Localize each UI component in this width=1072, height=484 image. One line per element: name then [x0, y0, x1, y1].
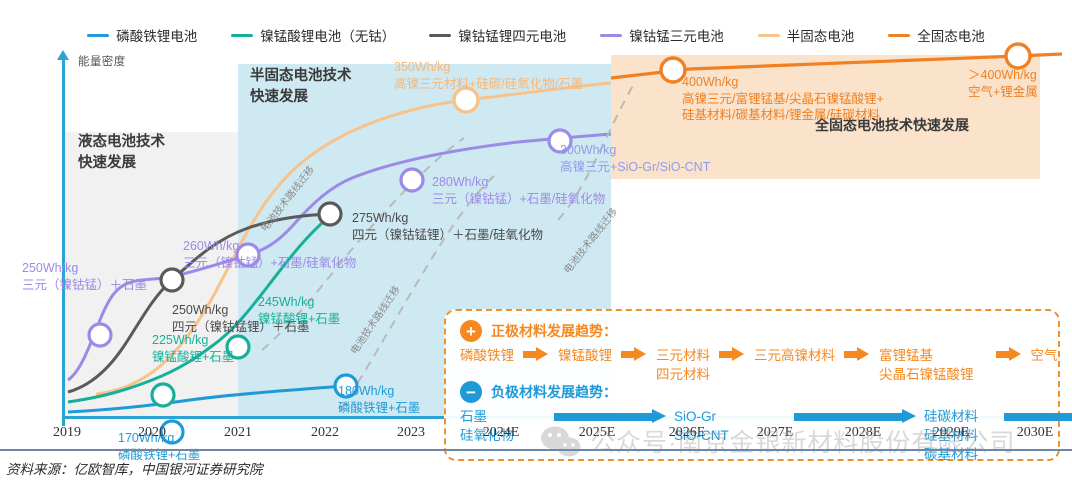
annotation-value: 245Wh/kg: [258, 294, 340, 311]
legend-swatch: [758, 34, 780, 37]
legend-label: 半固态电池: [787, 25, 855, 45]
data-point-node: [161, 269, 183, 291]
legend-item-semisolid: 半固态电池: [758, 25, 855, 45]
annotation-desc: 空气+锂金属: [968, 84, 1038, 101]
cathode-step: 三元高镍材料: [754, 346, 835, 365]
chart-root: 磷酸铁锂电池 镍锰酸锂电池（无钴） 镍钴锰锂四元电池 镍钴锰三元电池 半固态电池…: [0, 0, 1072, 484]
data-point-node: [401, 169, 423, 191]
cathode-step: 磷酸铁锂: [460, 346, 514, 365]
chart-legend: 磷酸铁锂电池 镍锰酸锂电池（无钴） 镍钴锰锂四元电池 镍钴锰三元电池 半固态电池…: [0, 22, 1072, 48]
x-tick-label: 2028E: [845, 425, 882, 441]
cathode-step-line: 三元材料: [656, 346, 710, 365]
x-tick-label: 2029E: [933, 425, 970, 441]
cathode-steps: 磷酸铁锂 镍锰酸锂 三元材料 四元材料 三元高镍材料 富锂锰基: [460, 346, 1058, 384]
annotation-225-lnmo: 225Wh/kg 镍锰酸锂+石墨: [152, 332, 234, 366]
x-tick-label: 2022: [311, 425, 339, 441]
x-tick-label: 2030E: [1017, 425, 1054, 441]
legend-item-ncm: 镍钴锰三元电池: [600, 25, 724, 45]
annotation-value: 250Wh/kg: [22, 260, 147, 277]
annotation-value: 260Wh/kg: [183, 238, 356, 255]
x-tick-label: 2021: [224, 425, 252, 441]
x-tick-label: 2026E: [669, 425, 706, 441]
legend-item-allsolid: 全固态电池: [888, 25, 985, 45]
anode-title: 负极材料发展趋势：: [491, 382, 617, 402]
x-tick-label: 2027E: [757, 425, 794, 441]
annotation-value: 300Wh/kg: [560, 142, 710, 159]
arrow-right-icon: [554, 409, 666, 424]
cathode-step-line: 镍锰酸锂: [558, 346, 612, 365]
annotation-desc: 镍锰酸锂+石墨: [152, 349, 234, 366]
legend-swatch: [600, 34, 622, 37]
arrow-right-icon: [844, 347, 870, 362]
legend-item-lnmo: 镍锰酸锂电池（无钴）: [231, 25, 395, 45]
annotation-260-ncm: 260Wh/kg 三元（镍钴锰）+石墨/硅氧化物: [183, 238, 356, 272]
annotation-280-ncm: 280Wh/kg 三元（镍钴锰）+石墨/硅氧化物: [432, 174, 605, 208]
annotation-desc: 四元（镍钴锰锂）＋石墨/硅氧化物: [352, 227, 543, 244]
data-point-node: [319, 203, 341, 225]
annotation-value: 180Wh/kg: [338, 383, 420, 400]
x-tick-label: 2025E: [579, 425, 616, 441]
annotation-desc: 三元（镍钴锰）+石墨/硅氧化物: [183, 255, 356, 272]
annotation-300-ncm: 300Wh/kg 高镍三元+SiO-Gr/SiO-CNT: [560, 142, 710, 176]
annotation-desc: 镍锰酸锂+石墨: [258, 311, 340, 328]
anode-header: − 负极材料发展趋势：: [460, 381, 617, 403]
legend-label: 镍钴锰三元电池: [629, 25, 724, 45]
legend-label: 镍钴锰锂四元电池: [458, 25, 566, 45]
arrow-right-icon: [1004, 409, 1072, 424]
cathode-title: 正极材料发展趋势：: [491, 321, 617, 341]
cathode-step-line: 磷酸铁锂: [460, 346, 514, 365]
x-tick-label: 2023: [397, 425, 425, 441]
arrow-right-icon: [523, 347, 549, 362]
legend-swatch: [87, 34, 109, 37]
annotation-245-lnmo: 245Wh/kg 镍锰酸锂+石墨: [258, 294, 340, 328]
annotation-400-allsolid: 400Wh/kg 高镍三元/富锂锰基/尖晶石镍锰酸锂+硅基材料/碳基材料/锂金属…: [682, 74, 884, 124]
x-tick-label: 2024E: [483, 425, 520, 441]
legend-item-ncml: 镍钴锰锂四元电池: [429, 25, 566, 45]
annotation-desc-line: 高镍三元/富锂锰基/尖晶石镍锰酸锂+: [682, 91, 884, 108]
arrow-right-icon: [621, 347, 647, 362]
plus-icon: +: [460, 320, 482, 342]
legend-swatch: [888, 34, 910, 37]
arrow-right-icon: [996, 347, 1022, 362]
data-point-node: [89, 324, 111, 346]
x-axis-ticks: 2019 2020 2021 2022 2023 2024E 2025E 202…: [0, 425, 1072, 449]
anode-step-line: SiO-Gr: [674, 407, 786, 426]
cathode-step: 空气: [1031, 346, 1058, 365]
plot-area: 液态电池技术 快速发展 半固态电池技术 快速发展 全固态电池技术快速发展 能量密…: [0, 50, 1072, 425]
legend-label: 全固态电池: [917, 25, 985, 45]
annotation-value: 350Wh/kg: [394, 59, 583, 76]
annotation-180-lfp: 180Wh/kg 磷酸铁锂+石墨: [338, 383, 420, 417]
annotation-desc: 高镍三元+SiO-Gr/SiO-CNT: [560, 159, 710, 176]
cathode-step: 镍锰酸锂: [558, 346, 612, 365]
cathode-step-line: 四元材料: [656, 365, 710, 384]
annotation-desc: 三元（镍钴锰）+石墨/硅氧化物: [432, 191, 605, 208]
annotation-value: 400Wh/kg: [682, 74, 884, 91]
cathode-step-line: 尖晶石镍锰酸锂: [879, 365, 974, 384]
cathode-header: + 正极材料发展趋势：: [460, 320, 617, 342]
annotation-value: ＞400Wh/kg: [968, 67, 1038, 84]
legend-label: 磷酸铁锂电池: [116, 25, 197, 45]
anode-step-line: 石墨: [460, 407, 546, 426]
footer-divider: [0, 449, 1072, 451]
anode-step-line: 硅碳材料: [924, 407, 996, 426]
annotation-desc: 三元（镍钴锰）＋石墨: [22, 277, 147, 294]
minus-icon: −: [460, 381, 482, 403]
cathode-step-line: 空气: [1031, 346, 1058, 365]
arrow-right-icon: [719, 347, 745, 362]
data-point-node: [152, 384, 174, 406]
annotation-350-semisolid: 350Wh/kg 高镍三元材料+硅碳/硅氧化物/石墨: [394, 59, 583, 93]
cathode-step: 三元材料 四元材料: [656, 346, 710, 384]
x-tick-label: 2019: [53, 425, 81, 441]
legend-label: 镍锰酸锂电池（无钴）: [260, 25, 395, 45]
arrow-right-icon: [794, 409, 916, 424]
annotation-value: 280Wh/kg: [432, 174, 605, 191]
cathode-step-line: 富锂锰基: [879, 346, 974, 365]
annotation-400plus-allsolid: ＞400Wh/kg 空气+锂金属: [968, 67, 1038, 101]
annotation-value: 275Wh/kg: [352, 210, 543, 227]
x-tick-label: 2020: [138, 425, 166, 441]
annotation-desc: 磷酸铁锂+石墨: [338, 400, 420, 417]
cathode-step-line: 三元高镍材料: [754, 346, 835, 365]
legend-swatch: [429, 34, 451, 37]
annotation-desc: 高镍三元材料+硅碳/硅氧化物/石墨: [394, 76, 583, 93]
annotation-desc: 高镍三元/富锂锰基/尖晶石镍锰酸锂+硅基材料/碳基材料/锂金属/硅碳材料: [682, 91, 884, 124]
annotation-value: 225Wh/kg: [152, 332, 234, 349]
data-point-node: [1006, 44, 1030, 68]
annotation-275-quaternary: 275Wh/kg 四元（镍钴锰锂）＋石墨/硅氧化物: [352, 210, 543, 244]
annotation-250-ncm: 250Wh/kg 三元（镍钴锰）＋石墨: [22, 260, 147, 294]
source-note: 资料来源：亿欧智库，中国银河证券研究院: [6, 458, 263, 478]
cathode-step: 富锂锰基 尖晶石镍锰酸锂: [879, 346, 974, 384]
annotation-desc-line: 硅基材料/碳基材料/锂金属/硅碳材料: [682, 107, 884, 124]
series-line-lfp: [68, 386, 346, 412]
legend-item-lfp: 磷酸铁锂电池: [87, 25, 197, 45]
legend-swatch: [231, 34, 253, 37]
